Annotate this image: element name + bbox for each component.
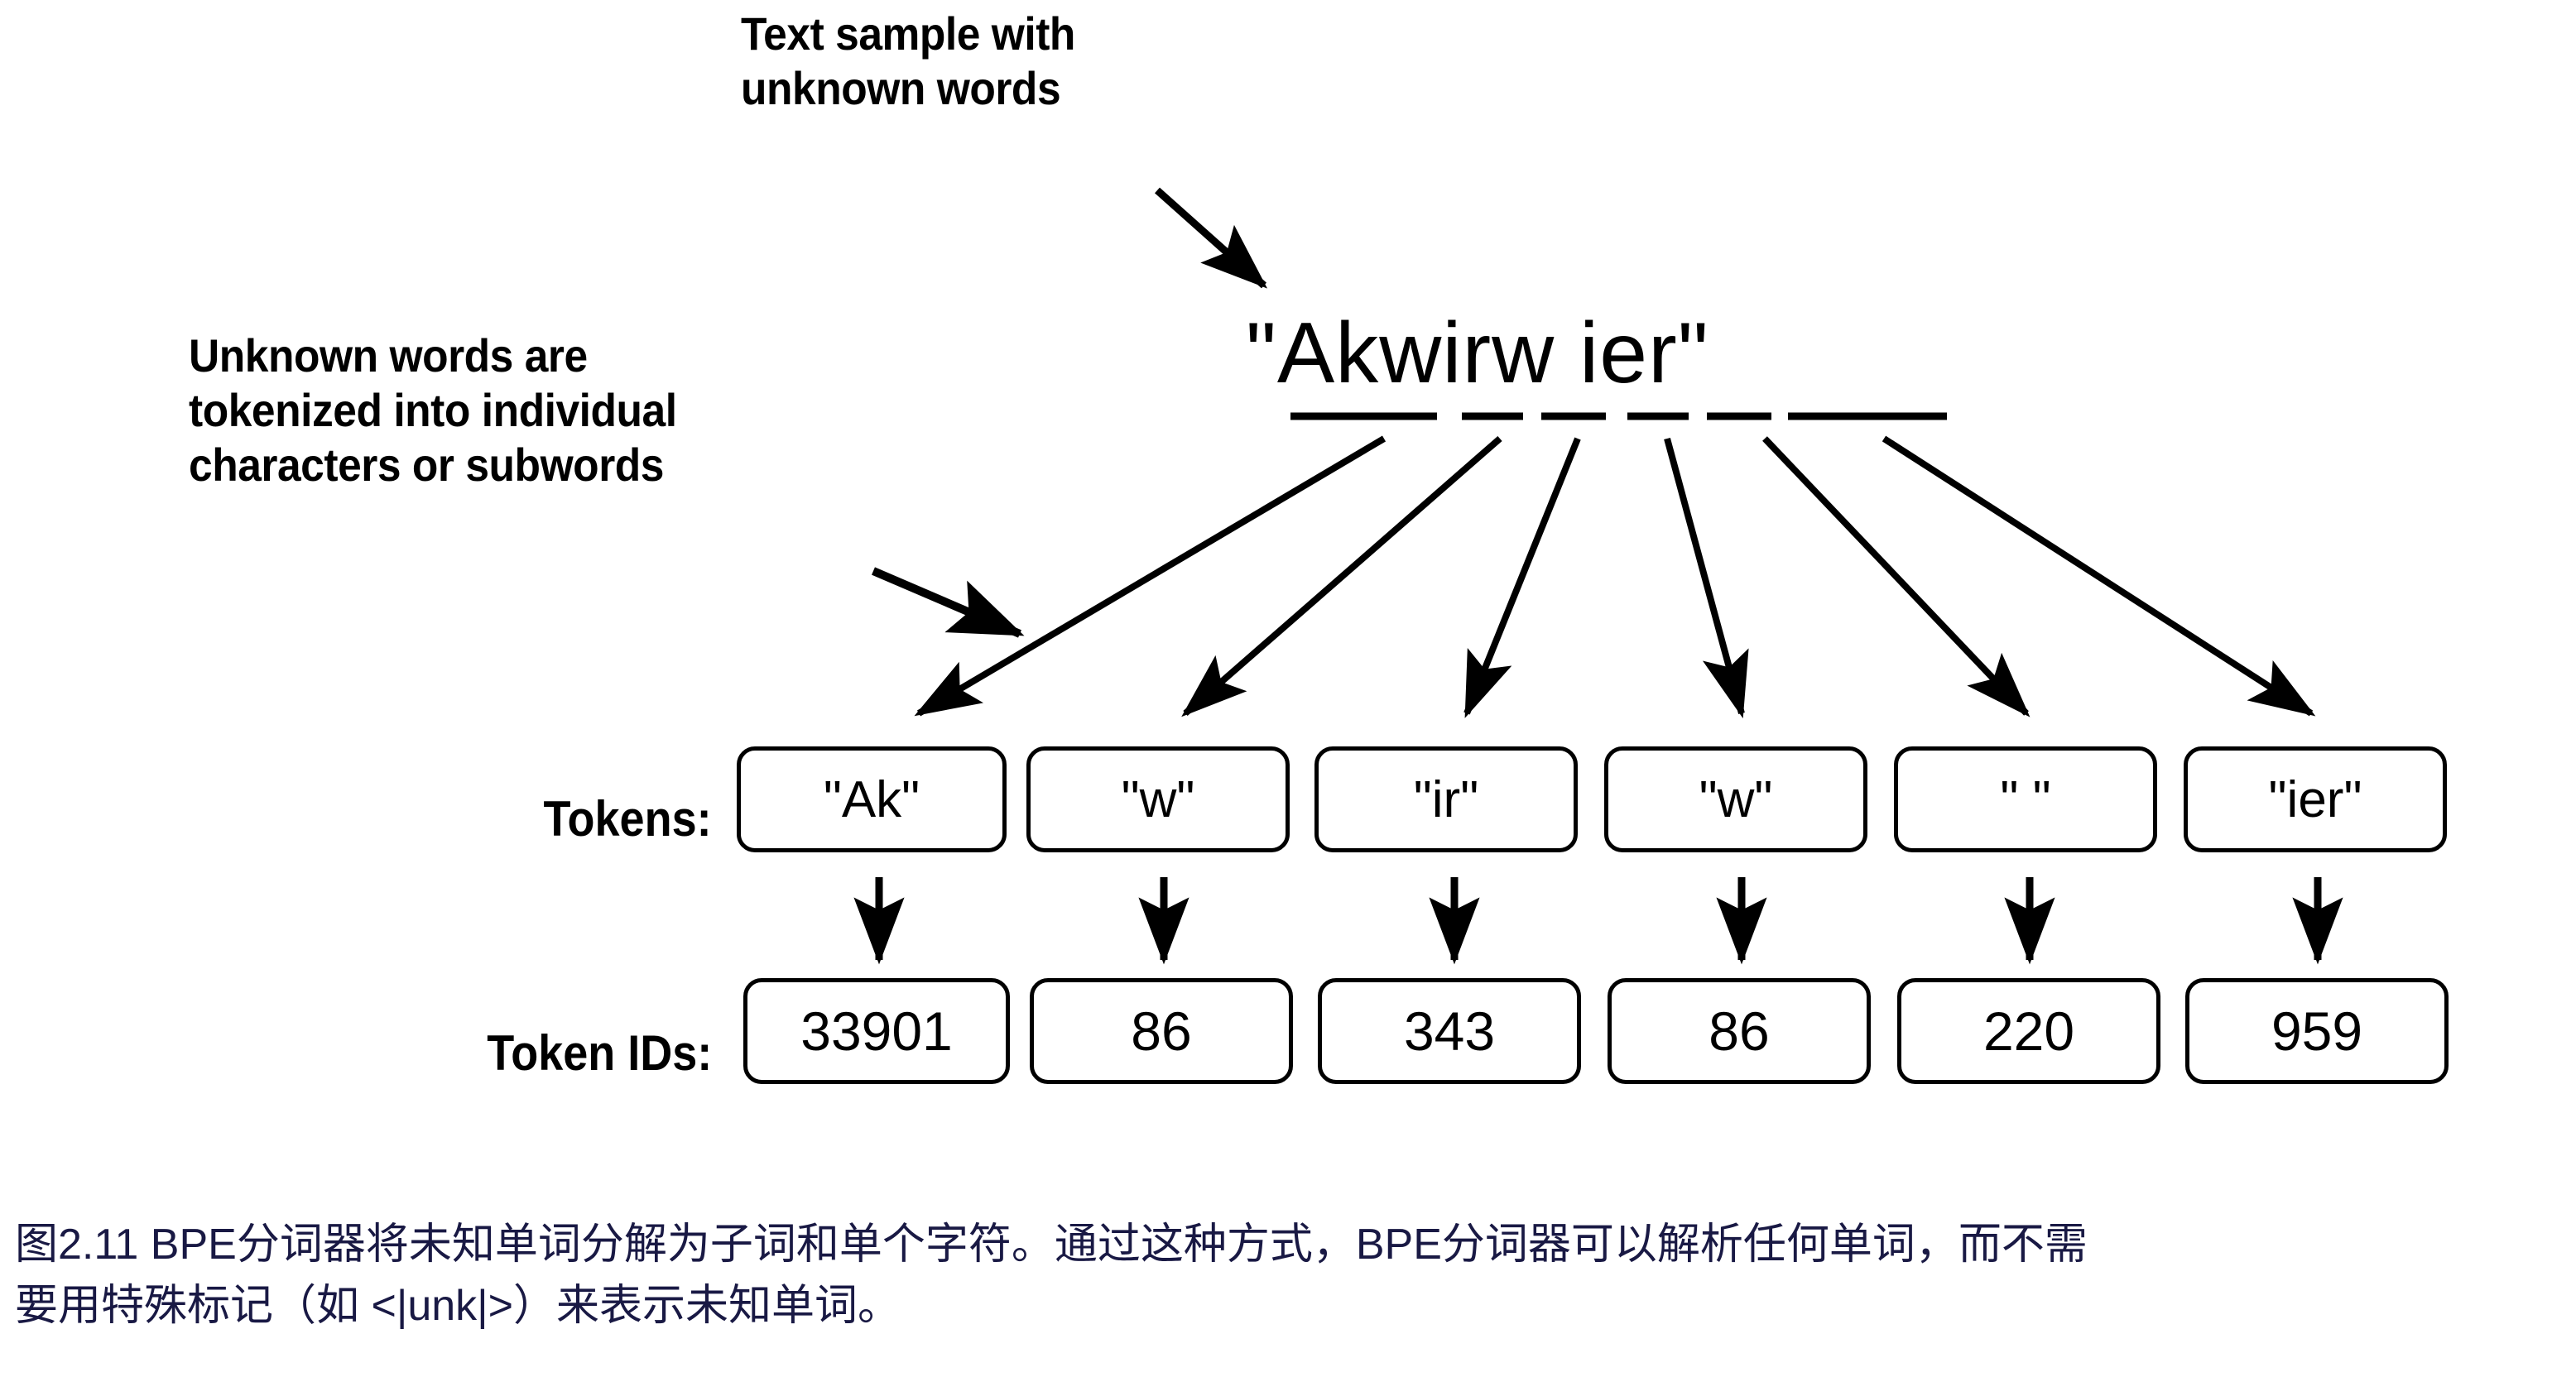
token-box: " " — [1894, 746, 2157, 852]
arrow-segment-to-token-3 — [1467, 439, 1578, 713]
sample-string: "Akwirw ier" — [1246, 310, 1709, 396]
token-id-box: 86 — [1030, 978, 1293, 1084]
token-box: "Ak" — [737, 746, 1007, 852]
arrow-segment-to-token-2 — [1185, 439, 1500, 713]
bpe-tokenizer-diagram: Text sample with unknown words Unknown w… — [0, 0, 2576, 1377]
token-id-box: 343 — [1318, 978, 1581, 1084]
token-id-box: 220 — [1897, 978, 2160, 1084]
caption-line-2: 要用特殊标记（如 <|unk|>）来表示未知单词。 — [15, 1276, 2564, 1337]
arrow-segment-to-token-6 — [1884, 439, 2311, 713]
arrow-segment-to-token-5 — [1765, 439, 2026, 713]
token-box: "w" — [1604, 746, 1867, 852]
row-label-tokens: Tokens: — [544, 790, 712, 847]
token-id-box: 86 — [1608, 978, 1871, 1084]
token-box: "w" — [1026, 746, 1290, 852]
token-box: "ier" — [2184, 746, 2447, 852]
token-id-box: 959 — [2185, 978, 2449, 1084]
annotation-text-sample: Text sample with unknown words — [741, 7, 1075, 116]
arrow-segment-to-token-4 — [1667, 439, 1742, 713]
arrow-segment-to-token-1 — [919, 439, 1384, 713]
token-id-box: 33901 — [743, 978, 1010, 1084]
caption-line-1: 图2.11 BPE分词器将未知单词分解为子词和单个字符。通过这种方式，BPE分词… — [15, 1215, 2564, 1276]
arrow-text-sample-to-string — [1157, 190, 1264, 285]
row-label-token-ids: Token IDs: — [487, 1024, 712, 1082]
token-box: "ir" — [1314, 746, 1578, 852]
figure-caption: 图2.11 BPE分词器将未知单词分解为子词和单个字符。通过这种方式，BPE分词… — [15, 1215, 2564, 1337]
annotation-unknown-words: Unknown words are tokenized into individ… — [189, 329, 677, 492]
connector-overlay — [0, 0, 2576, 1377]
arrow-unknown-words-to-fan — [873, 571, 1020, 634]
